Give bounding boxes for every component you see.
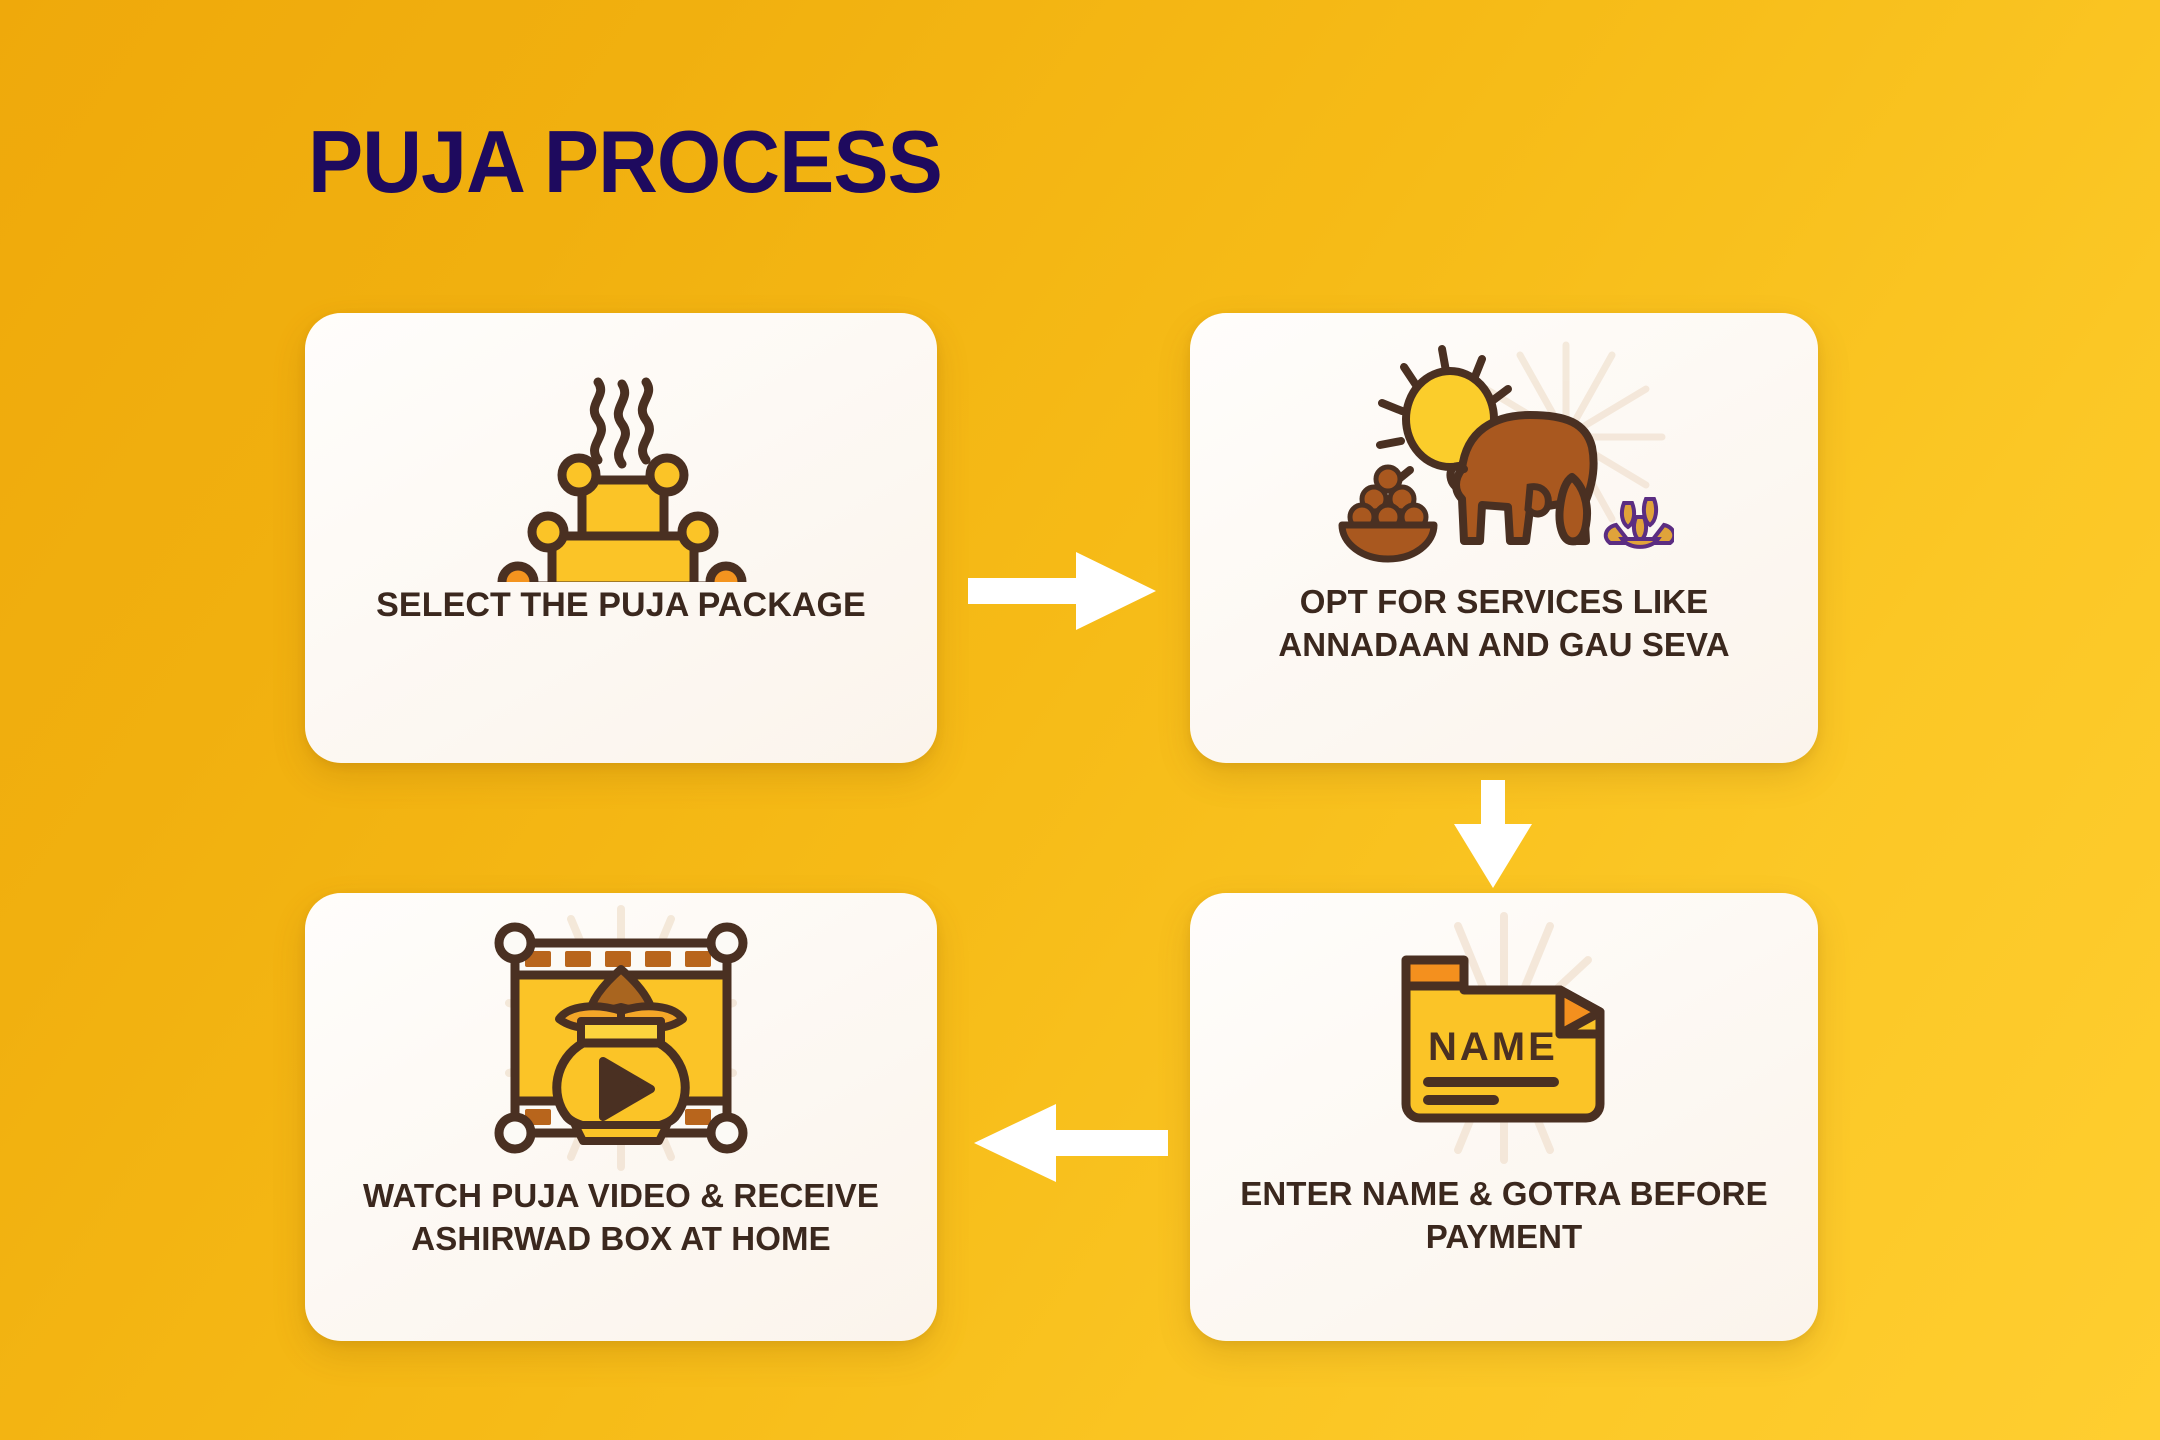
step-card-select-puja-package[interactable]: SELECT THE PUJA PACKAGE <box>305 313 937 763</box>
video-kalash-icon <box>305 893 937 1175</box>
page-title: PUJA PROCESS <box>308 118 942 206</box>
step-card-label: SELECT THE PUJA PACKAGE <box>305 583 937 627</box>
name-card-icon: NAME <box>1190 893 1818 1173</box>
arrow-right-icon <box>968 548 1158 634</box>
arrow-left-icon <box>968 1100 1168 1186</box>
diya-icon <box>1606 499 1674 547</box>
step-card-enter-name-gotra[interactable]: NAME ENTER NAME & GOTRA BEFORE PAYMENT <box>1190 893 1818 1341</box>
step-card-opt-for-services[interactable]: OPT FOR SERVICES LIKE ANNADAAN AND GAU S… <box>1190 313 1818 763</box>
name-card-text: NAME <box>1428 1025 1558 1069</box>
step-card-label: OPT FOR SERVICES LIKE ANNADAAN AND GAU S… <box>1190 581 1818 667</box>
step-card-watch-video-ashirwad-box[interactable]: WATCH PUJA VIDEO & RECEIVE ASHIRWAD BOX … <box>305 893 937 1341</box>
cow-sun-icon <box>1190 313 1818 581</box>
step-card-label: ENTER NAME & GOTRA BEFORE PAYMENT <box>1190 1173 1818 1259</box>
step-card-label: WATCH PUJA VIDEO & RECEIVE ASHIRWAD BOX … <box>305 1175 937 1261</box>
altar-mandap-icon <box>305 313 937 583</box>
arrow-down-icon <box>1450 780 1536 890</box>
